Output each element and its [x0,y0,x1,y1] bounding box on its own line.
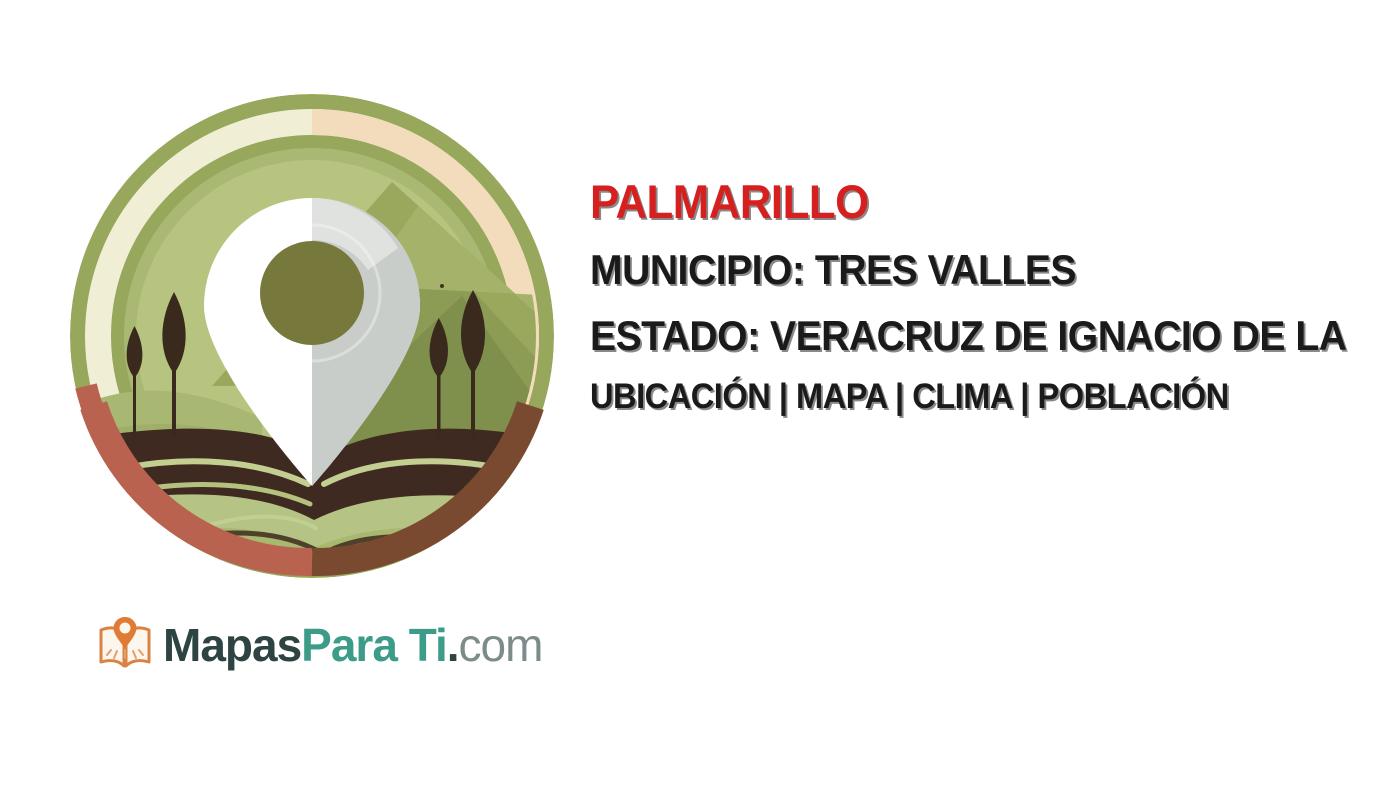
open-book-map-pin-icon [97,614,153,676]
estado-line: ESTADO: VERACRUZ DE IGNACIO DE LA [590,315,1390,357]
brand-part-parati: Para Ti [301,619,447,671]
brand-part-mapas: Mapas [163,619,301,671]
brand-wordmark: MapasPara Ti.com [163,622,542,668]
section-links-line: UBICACIÓN | MAPA | CLIMA | POBLACIÓN [590,379,1390,414]
place-info-block: PALMARILLO MUNICIPIO: TRES VALLES ESTADO… [590,178,1400,414]
landscape-emblem-container [62,86,562,586]
brand-logo[interactable]: MapasPara Ti.com [97,614,542,676]
page-title: PALMARILLO [590,178,1390,225]
municipio-line: MUNICIPIO: TRES VALLES [590,249,1390,291]
page-root: PALMARILLO MUNICIPIO: TRES VALLES ESTADO… [0,0,1400,786]
brand-dot: . [447,619,459,671]
brand-tld: com [459,619,543,671]
landscape-map-pin-emblem [62,86,562,586]
